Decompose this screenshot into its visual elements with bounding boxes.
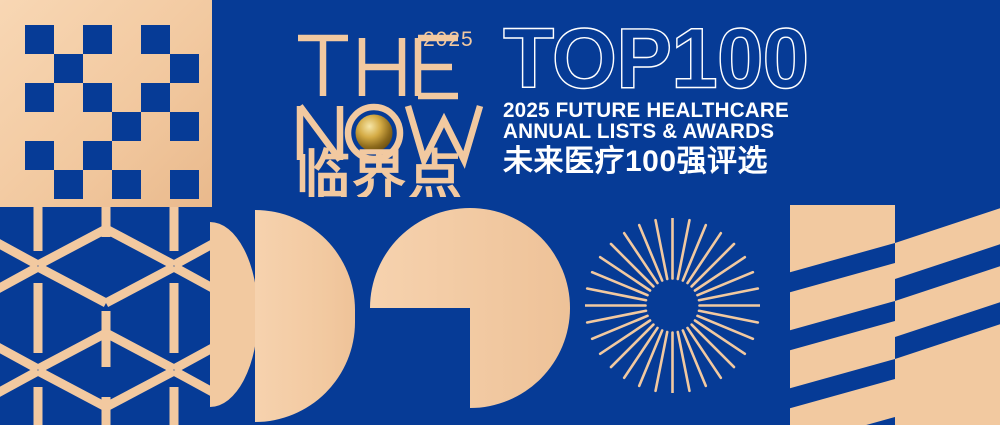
checker-cell bbox=[83, 83, 112, 112]
headline-sub-line-1: 2025 FUTURE HEALTHCARE bbox=[503, 100, 834, 121]
top100-title: TOP100 bbox=[503, 20, 848, 96]
checker-cell bbox=[141, 54, 170, 83]
checkerboard-grid bbox=[25, 25, 199, 199]
checker-cell bbox=[83, 112, 112, 141]
checker-cell bbox=[54, 25, 83, 54]
checker-cell bbox=[25, 25, 54, 54]
checker-cell bbox=[170, 25, 199, 54]
checker-cell bbox=[112, 170, 141, 199]
checker-cell bbox=[141, 141, 170, 170]
checker-cell bbox=[83, 141, 112, 170]
the-now-logo: 2025 临界点 bbox=[292, 22, 487, 197]
checker-cell bbox=[112, 141, 141, 170]
checker-cell bbox=[170, 141, 199, 170]
checker-cell bbox=[54, 170, 83, 199]
chevron-stripes-decoration bbox=[790, 205, 1000, 425]
logo-chinese: 临界点 bbox=[296, 146, 464, 197]
hex-lattice-decoration bbox=[0, 207, 212, 425]
top100-text: TOP100 bbox=[503, 20, 808, 96]
checker-cell bbox=[112, 54, 141, 83]
headline-block: TOP100 2025 FUTURE HEALTHCARE ANNUAL LIS… bbox=[503, 20, 848, 179]
checker-cell bbox=[112, 83, 141, 112]
headline-sub-line-2: ANNUAL LISTS & AWARDS bbox=[503, 121, 834, 142]
checker-cell bbox=[141, 25, 170, 54]
checker-cell bbox=[54, 54, 83, 83]
checker-cell bbox=[83, 25, 112, 54]
half-disc-decoration bbox=[255, 210, 355, 422]
checker-cell bbox=[25, 112, 54, 141]
sunburst-decoration bbox=[585, 218, 760, 393]
checker-cell bbox=[25, 141, 54, 170]
checker-cell bbox=[54, 141, 83, 170]
checker-cell bbox=[141, 170, 170, 199]
checker-cell bbox=[170, 112, 199, 141]
checker-cell bbox=[170, 54, 199, 83]
checker-cell bbox=[112, 112, 141, 141]
checker-cell bbox=[54, 112, 83, 141]
checker-cell bbox=[170, 83, 199, 112]
checker-cell bbox=[141, 83, 170, 112]
checker-cell bbox=[112, 25, 141, 54]
checker-cell bbox=[141, 112, 170, 141]
checker-cell bbox=[83, 170, 112, 199]
lens-shape-decoration bbox=[210, 222, 258, 407]
checker-cell bbox=[25, 170, 54, 199]
checkerboard-panel bbox=[0, 0, 212, 207]
promo-banner: 2025 临界点 TOP100 2025 FUTURE HEALTHCARE A… bbox=[0, 0, 1000, 425]
checker-cell bbox=[54, 83, 83, 112]
checker-cell bbox=[83, 54, 112, 83]
checker-cell bbox=[25, 83, 54, 112]
checker-cell bbox=[25, 54, 54, 83]
checker-cell bbox=[170, 170, 199, 199]
headline-chinese: 未来医疗100强评选 bbox=[503, 145, 848, 179]
logo-year: 2025 bbox=[423, 28, 474, 51]
notched-circle-decoration bbox=[370, 208, 570, 408]
